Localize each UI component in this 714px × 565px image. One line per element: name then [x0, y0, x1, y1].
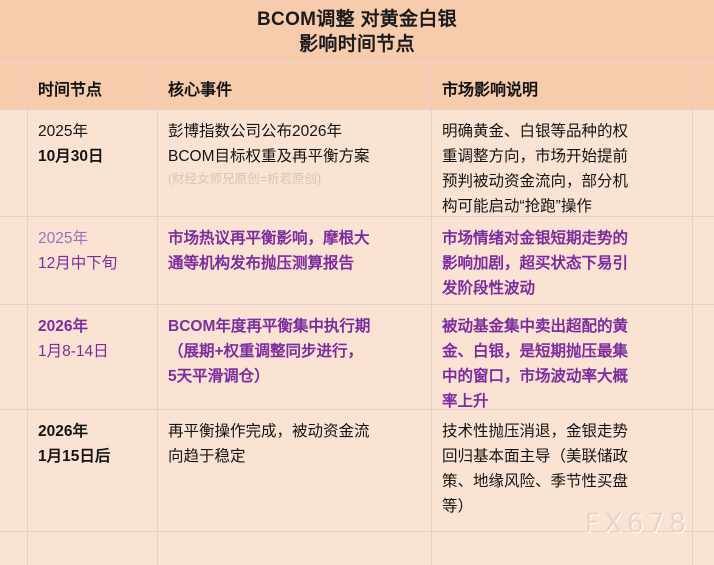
row-gutter-cell	[0, 110, 28, 216]
cell-impact[interactable]: 技术性抛压消退，金银走势 回归基本面主导（美联储政 策、地缘风险、季节性买盘 等…	[432, 410, 693, 531]
cell-event[interactable]	[158, 532, 432, 565]
table-header-row: 时间节点 核心事件 市场影响说明	[0, 64, 714, 110]
impact-text: 明确黄金、白银等品种的权 重调整方向，市场开始提前 预判被动资金流向，部分机 构…	[442, 119, 683, 216]
time-line-2: 10月30日	[38, 144, 148, 169]
header-gutter-cell	[0, 64, 28, 109]
time-line-2: 1月15日后	[38, 444, 148, 469]
time-line-1: 2026年	[38, 419, 148, 444]
header-cell-impact: 市场影响说明	[432, 64, 693, 109]
cell-impact[interactable]: 明确黄金、白银等品种的权 重调整方向，市场开始提前 预判被动资金流向，部分机 构…	[432, 110, 693, 216]
row-tail-cell	[693, 110, 714, 216]
row-tail-cell	[693, 532, 714, 565]
cell-time[interactable]: 2025年 12月中下旬	[28, 217, 158, 304]
header-label-impact: 市场影响说明	[432, 64, 692, 100]
row-gutter-cell	[0, 410, 28, 531]
title-line-1: BCOM调整 对黄金白银	[257, 7, 457, 32]
cell-time[interactable]: 2025年 10月30日	[28, 110, 158, 216]
time-line-1: 2025年	[38, 119, 148, 144]
header-cell-event: 核心事件	[158, 64, 432, 109]
cell-event[interactable]: 彭博指数公司公布2026年 BCOM目标权重及再平衡方案 (财经女师兄原创=析若…	[158, 110, 432, 216]
cell-time[interactable]	[28, 532, 158, 565]
row-gutter-cell	[0, 532, 28, 565]
cell-event[interactable]: 市场热议再平衡影响，摩根大 通等机构发布抛压测算报告	[158, 217, 432, 304]
cell-impact[interactable]: 市场情绪对金银短期走势的 影响加剧，超买状态下易引 发阶段性波动	[432, 217, 693, 304]
table-row[interactable]: 2025年 12月中下旬 市场热议再平衡影响，摩根大 通等机构发布抛压测算报告 …	[0, 217, 714, 305]
cell-time[interactable]: 2026年 1月8-14日	[28, 305, 158, 409]
event-text: 彭博指数公司公布2026年 BCOM目标权重及再平衡方案	[168, 119, 422, 169]
table-grid: 时间节点 核心事件 市场影响说明 2025年 10月30日 彭博指数公司公布20…	[0, 64, 714, 565]
cell-time[interactable]: 2026年 1月15日后	[28, 410, 158, 531]
time-line-2: 12月中下旬	[38, 251, 148, 276]
cell-event[interactable]: BCOM年度再平衡集中执行期 （展期+权重调整同步进行， 5天平滑调仓）	[158, 305, 432, 409]
cell-event[interactable]: 再平衡操作完成，被动资金流 向趋于稳定	[158, 410, 432, 531]
row-tail-cell	[693, 410, 714, 531]
table-row-empty[interactable]	[0, 532, 714, 565]
time-line-1: 2025年	[38, 226, 148, 251]
header-cell-time: 时间节点	[28, 64, 158, 109]
impact-text: 市场情绪对金银短期走势的 影响加剧，超买状态下易引 发阶段性波动	[442, 226, 683, 301]
event-text: BCOM年度再平衡集中执行期 （展期+权重调整同步进行， 5天平滑调仓）	[168, 314, 422, 389]
table-title: BCOM调整 对黄金白银 影响时间节点	[0, 0, 714, 64]
event-text: 再平衡操作完成，被动资金流 向趋于稳定	[168, 419, 422, 469]
table-row[interactable]: 2026年 1月8-14日 BCOM年度再平衡集中执行期 （展期+权重调整同步进…	[0, 305, 714, 410]
time-line-1: 2026年	[38, 314, 148, 339]
event-text: 市场热议再平衡影响，摩根大 通等机构发布抛压测算报告	[168, 226, 422, 276]
cell-impact[interactable]	[432, 532, 693, 565]
event-note: (财经女师兄原创=析若原创)	[168, 170, 422, 188]
impact-text: 被动基金集中卖出超配的黄 金、白银，是短期抛压最集 中的窗口，市场波动率大概 率…	[442, 314, 683, 409]
header-tail-cell	[693, 64, 714, 109]
impact-text: 技术性抛压消退，金银走势 回归基本面主导（美联储政 策、地缘风险、季节性买盘 等…	[442, 419, 683, 519]
spreadsheet-canvas: BCOM调整 对黄金白银 影响时间节点 时间节点 核心事件 市场影响说明 202…	[0, 0, 714, 565]
row-tail-cell	[693, 305, 714, 409]
cell-impact[interactable]: 被动基金集中卖出超配的黄 金、白银，是短期抛压最集 中的窗口，市场波动率大概 率…	[432, 305, 693, 409]
row-tail-cell	[693, 217, 714, 304]
header-label-time: 时间节点	[28, 64, 157, 100]
header-label-event: 核心事件	[158, 64, 431, 100]
row-gutter-cell	[0, 217, 28, 304]
title-line-2: 影响时间节点	[299, 32, 415, 57]
table-row[interactable]: 2026年 1月15日后 再平衡操作完成，被动资金流 向趋于稳定 技术性抛压消退…	[0, 410, 714, 532]
table-row[interactable]: 2025年 10月30日 彭博指数公司公布2026年 BCOM目标权重及再平衡方…	[0, 110, 714, 217]
time-line-2: 1月8-14日	[38, 339, 148, 364]
row-gutter-cell	[0, 305, 28, 409]
